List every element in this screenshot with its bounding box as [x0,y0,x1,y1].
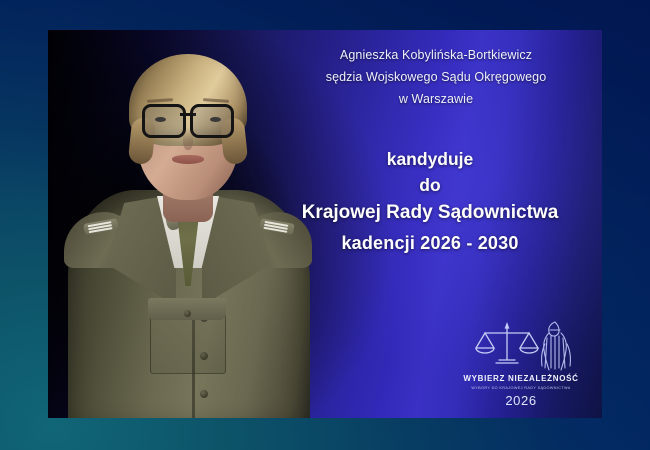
headline-line-4: kadencji 2026 - 2030 [262,228,598,258]
campaign-headline: kandyduje do Krajowej Rady Sądownictwa k… [262,146,598,258]
lens-right [190,104,234,138]
emblem-title: WYBIERZ NIEZALEŻNOŚĆ [458,374,584,383]
lady-justice-icon [542,322,571,370]
campaign-emblem: WYBIERZ NIEZALEŻNOŚĆ WYBORY DO KRAJOWEJ … [458,316,584,408]
candidate-name: Agnieszka Kobylińska-Bortkiewicz [280,44,592,66]
scales-of-justice-icon [463,316,579,372]
nose [183,128,193,150]
poster-screenshot: Agnieszka Kobylińska-Bortkiewicz sędzia … [0,0,650,450]
mouth [172,155,204,164]
chest-pocket-flap [148,298,226,320]
headline-line-1: kandyduje [262,146,598,172]
headline-line-3: Krajowej Rady Sądownictwa [262,198,598,228]
candidate-role-line-2: w Warszawie [280,88,592,110]
headline-line-2: do [262,172,598,198]
emblem-artwork [463,316,579,372]
emblem-year: 2026 [458,393,584,408]
candidate-role-line-1: sędzia Wojskowego Sądu Okręgowego [280,66,592,88]
lens-left [142,104,186,138]
jacket-button [200,390,208,398]
emblem-subtitle: WYBORY DO KRAJOWEJ RADY SĄDOWNICTWA [455,386,587,390]
candidate-details: Agnieszka Kobylińska-Bortkiewicz sędzia … [280,44,592,110]
poster-panel: Agnieszka Kobylińska-Bortkiewicz sędzia … [48,30,602,418]
